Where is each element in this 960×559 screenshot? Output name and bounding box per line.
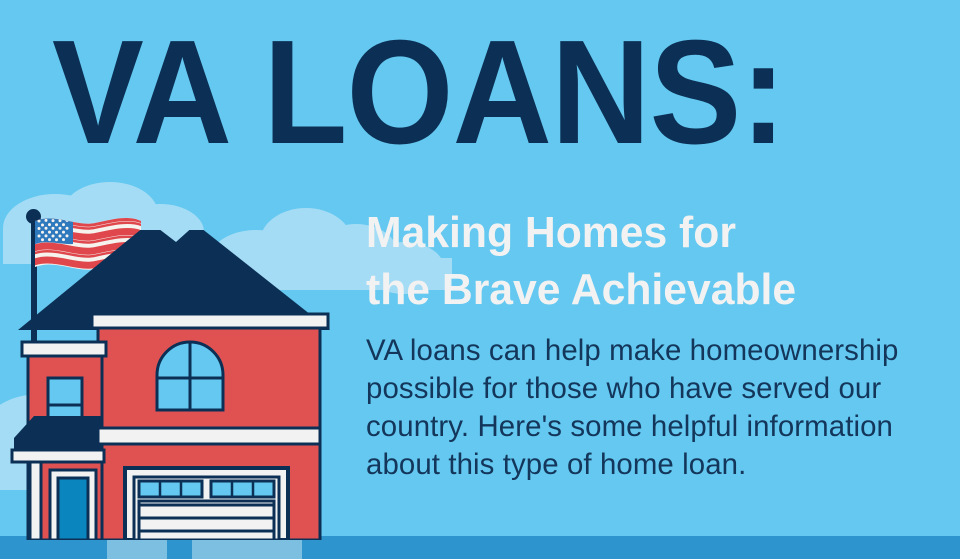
body-line-1: VA loans can help make homeownership: [366, 332, 932, 370]
front-door: [58, 478, 88, 540]
body-text: VA loans can help make homeownership pos…: [366, 332, 932, 484]
page-title: VA LOANS:: [52, 18, 870, 168]
floor-divider-band: [98, 428, 320, 444]
porch-column: [30, 462, 41, 540]
subtitle: Making Homes for the Brave Achievable: [366, 204, 927, 318]
two-story-house-icon: [0, 230, 340, 540]
infographic-header: VA LOANS: Making Homes for the Brave Ach…: [0, 0, 960, 559]
body-line-3: country. Here's some helpful information: [366, 408, 932, 446]
body-line-4: about this type of home loan.: [366, 446, 932, 484]
subtitle-line-1: Making Homes for: [366, 204, 927, 261]
text-column: Making Homes for the Brave Achievable VA…: [366, 204, 944, 484]
subtitle-line-2: the Brave Achievable: [366, 261, 927, 318]
body-line-2: possible for those who have served our: [366, 370, 932, 408]
